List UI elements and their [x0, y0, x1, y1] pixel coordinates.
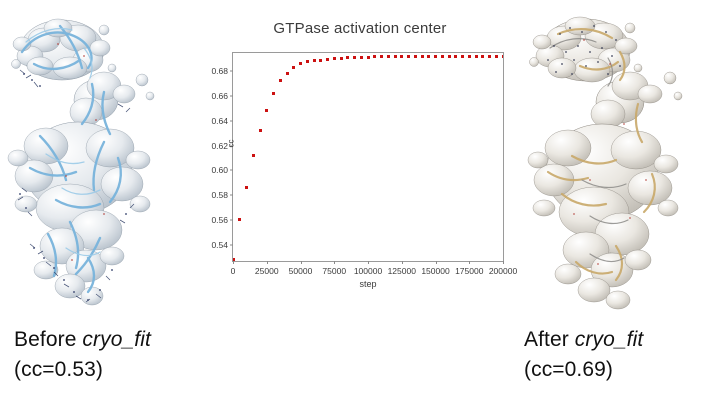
y-tick-label: 0.56	[211, 215, 228, 225]
x-tick-label: 0	[231, 266, 236, 276]
x-tick-label: 25000	[255, 266, 279, 276]
data-point	[475, 55, 478, 58]
data-point	[394, 55, 397, 58]
x-axis-label: step	[233, 279, 503, 289]
data-point	[367, 56, 370, 59]
data-point	[292, 66, 295, 69]
data-point	[400, 55, 403, 58]
data-point	[272, 92, 275, 95]
data-point	[380, 55, 383, 58]
x-tick-mark	[402, 261, 403, 264]
x-tick-mark	[334, 261, 335, 264]
data-point	[441, 55, 444, 58]
x-tick-mark	[469, 261, 470, 264]
data-point	[346, 56, 349, 59]
data-point	[454, 55, 457, 58]
x-tick-label: 100000	[354, 266, 382, 276]
caption-before: Before cryo_fit (cc=0.53)	[14, 325, 151, 385]
data-point	[333, 57, 336, 60]
x-tick-mark	[503, 261, 504, 264]
y-tick-mark	[230, 120, 233, 121]
y-tick-label: 0.58	[211, 190, 228, 200]
data-point	[286, 72, 289, 75]
x-tick-mark	[436, 261, 437, 264]
data-point	[326, 58, 329, 61]
x-tick-mark	[233, 261, 234, 264]
cryo-em-density-map-before	[0, 8, 200, 318]
slide-canvas: GTPase activation center 0.540.560.580.6…	[0, 0, 720, 409]
caption-before-cc: (cc=0.53)	[14, 355, 151, 385]
y-tick-mark	[230, 170, 233, 171]
plot-area	[233, 53, 503, 261]
x-tick-mark	[368, 261, 369, 264]
x-tick-label: 150000	[421, 266, 449, 276]
caption-after-tool: cryo_fit	[575, 328, 644, 351]
x-tick-label: 125000	[388, 266, 416, 276]
caption-before-prefix: Before	[14, 328, 82, 351]
caption-after-prefix: After	[524, 328, 575, 351]
data-point	[434, 55, 437, 58]
data-point	[488, 55, 491, 58]
y-tick-mark	[230, 71, 233, 72]
data-point	[468, 55, 471, 58]
data-point	[427, 55, 430, 58]
y-tick-mark	[230, 244, 233, 245]
y-tick-label: 0.60	[211, 165, 228, 175]
x-tick-label: 175000	[455, 266, 483, 276]
caption-before-tool: cryo_fit	[82, 328, 151, 351]
x-tick-label: 50000	[289, 266, 313, 276]
data-point	[252, 154, 255, 157]
y-axis-label: cc	[227, 124, 236, 164]
caption-after-cc: (cc=0.69)	[524, 355, 643, 385]
data-point	[421, 55, 424, 58]
plot-frame: 0.540.560.580.600.620.640.660.68 0250005…	[232, 52, 504, 262]
chart-title: GTPase activation center	[200, 20, 520, 37]
y-tick-label: 0.66	[211, 91, 228, 101]
cc-vs-step-chart: GTPase activation center 0.540.560.580.6…	[200, 6, 520, 306]
data-point	[360, 56, 363, 59]
caption-after: After cryo_fit (cc=0.69)	[524, 325, 643, 385]
molecular-surface-before-svg	[0, 8, 200, 318]
data-point	[481, 55, 484, 58]
molecular-surface-after-svg	[520, 8, 720, 318]
data-point	[306, 60, 309, 63]
y-tick-mark	[230, 220, 233, 221]
data-point	[407, 55, 410, 58]
data-point	[373, 55, 376, 58]
data-point	[340, 57, 343, 60]
y-tick-label: 0.54	[211, 240, 228, 250]
y-tick-label: 0.68	[211, 66, 228, 76]
data-point	[238, 218, 241, 221]
x-tick-label: 75000	[322, 266, 346, 276]
data-point	[448, 55, 451, 58]
data-point	[265, 109, 268, 112]
data-point	[245, 186, 248, 189]
y-tick-mark	[230, 95, 233, 96]
data-point	[353, 56, 356, 59]
data-point	[387, 55, 390, 58]
data-point	[461, 55, 464, 58]
cryo-em-density-map-after	[520, 8, 720, 318]
data-point	[299, 62, 302, 65]
data-point	[414, 55, 417, 58]
x-tick-mark	[301, 261, 302, 264]
data-point	[279, 79, 282, 82]
x-tick-mark	[267, 261, 268, 264]
data-point	[259, 129, 262, 132]
data-point	[313, 59, 316, 62]
data-point	[495, 55, 498, 58]
data-point	[502, 55, 504, 58]
x-tick-label: 200000	[489, 266, 517, 276]
data-point	[319, 59, 322, 62]
y-tick-mark	[230, 195, 233, 196]
